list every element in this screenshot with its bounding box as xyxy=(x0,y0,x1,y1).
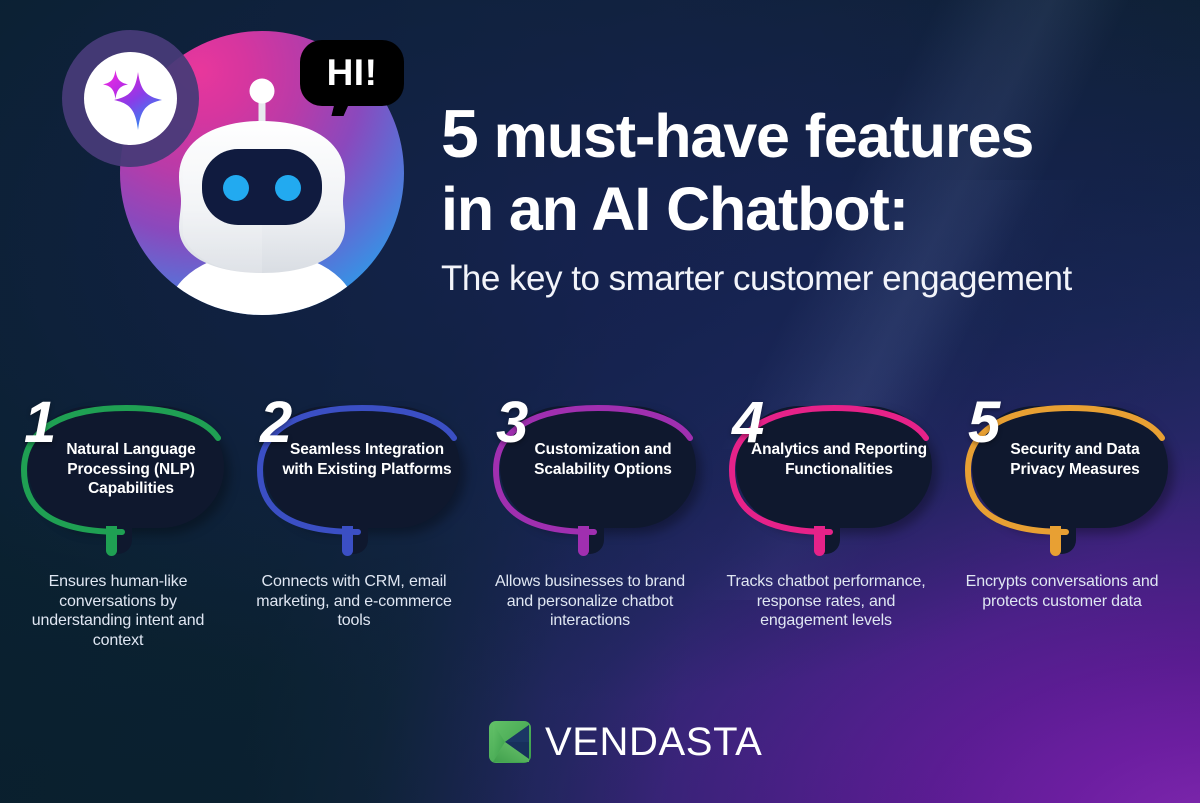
bubble-tail-accent xyxy=(814,526,825,556)
vendasta-logo: VENDASTA xyxy=(488,716,762,768)
feature-title-3: Customization and Scalability Options xyxy=(512,440,694,479)
feature-bubble-4: 4 Analytics and Reporting Functionalitie… xyxy=(718,400,934,530)
feature-title-5: Security and Data Privacy Measures xyxy=(984,440,1166,479)
feature-title-1: Natural Language Processing (NLP) Capabi… xyxy=(40,440,222,499)
feature-number-2: 2 xyxy=(260,394,290,452)
headline-subtitle: The key to smarter customer engagement xyxy=(441,255,1121,303)
feature-bubble-1: 1 Natural Language Processing (NLP) Capa… xyxy=(10,400,226,530)
feature-number-4: 4 xyxy=(732,394,762,452)
feature-card-3: 3 Customization and Scalability Options … xyxy=(472,392,708,682)
feature-description-5: Encrypts conversations and protects cust… xyxy=(952,572,1172,611)
headline-block: 5 must-have features in an AI Chatbot: T… xyxy=(441,98,1121,303)
sparkle-icon xyxy=(84,52,177,145)
feature-number-5: 5 xyxy=(968,394,998,452)
headline-count: 5 xyxy=(441,96,478,172)
bubble-tail-accent xyxy=(578,526,589,556)
headline-line-1: 5 must-have features xyxy=(441,98,1121,172)
feature-bubble-2: 2 Seamless Integration with Existing Pla… xyxy=(246,400,462,530)
greeting-text: HI! xyxy=(300,40,404,106)
feature-description-3: Allows businesses to brand and personali… xyxy=(480,572,700,631)
feature-card-2: 2 Seamless Integration with Existing Pla… xyxy=(236,392,472,682)
feature-card-1: 1 Natural Language Processing (NLP) Capa… xyxy=(0,392,236,682)
feature-description-4: Tracks chatbot performance, response rat… xyxy=(716,572,936,631)
feature-description-2: Connects with CRM, email marketing, and … xyxy=(244,572,464,631)
headline-line-1-rest: must-have features xyxy=(478,102,1033,170)
feature-card-5: 5 Security and Data Privacy Measures Enc… xyxy=(944,392,1180,682)
feature-bubble-3: 3 Customization and Scalability Options xyxy=(482,400,698,530)
feature-description-1: Ensures human-like conversations by unde… xyxy=(8,572,228,650)
feature-title-4: Analytics and Reporting Functionalities xyxy=(748,440,930,479)
greeting-speech-bubble: HI! xyxy=(300,40,404,118)
bubble-tail-accent xyxy=(342,526,353,556)
feature-title-2: Seamless Integration with Existing Platf… xyxy=(276,440,458,479)
bubble-tail-accent xyxy=(106,526,117,556)
feature-number-1: 1 xyxy=(24,394,54,452)
infographic-canvas: HI! 5 must-have features in an AI Chatbo… xyxy=(0,0,1200,803)
headline-line-2: in an AI Chatbot: xyxy=(441,172,1121,246)
vendasta-logo-icon xyxy=(488,718,536,766)
feature-number-3: 3 xyxy=(496,394,526,452)
ai-sparkle-badge xyxy=(62,30,199,167)
feature-bubble-5: 5 Security and Data Privacy Measures xyxy=(954,400,1170,530)
feature-card-list: 1 Natural Language Processing (NLP) Capa… xyxy=(0,392,1200,682)
vendasta-wordmark: VENDASTA xyxy=(545,722,762,762)
feature-card-4: 4 Analytics and Reporting Functionalitie… xyxy=(708,392,944,682)
bubble-tail-accent xyxy=(1050,526,1061,556)
